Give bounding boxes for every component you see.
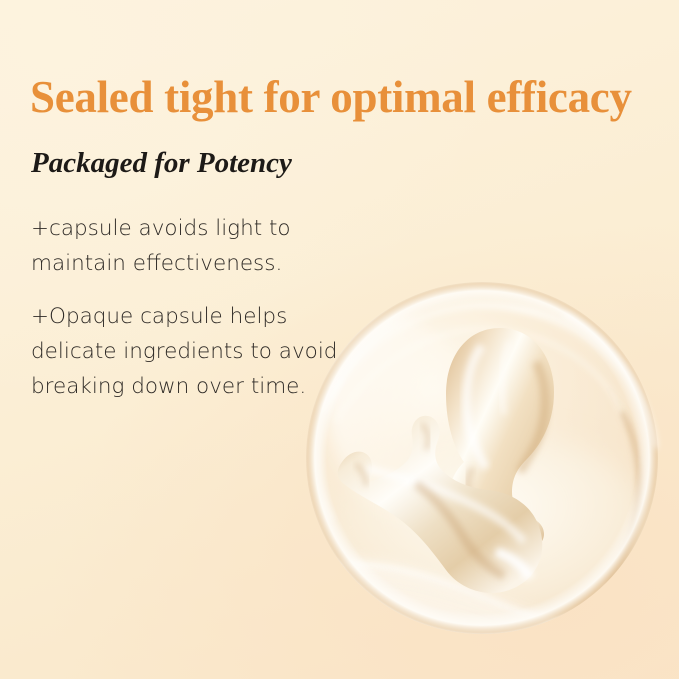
page-title: Sealed tight for optimal efficacy — [30, 74, 679, 121]
bullet-item-2: +Opaque capsule helps delicate ingredien… — [31, 299, 361, 404]
poster-root: Sealed tight for optimal efficacy Packag… — [0, 0, 679, 679]
subtitle: Packaged for Potency — [31, 148, 292, 180]
bullet-item-1: +capsule avoids light to maintain effect… — [31, 211, 361, 281]
